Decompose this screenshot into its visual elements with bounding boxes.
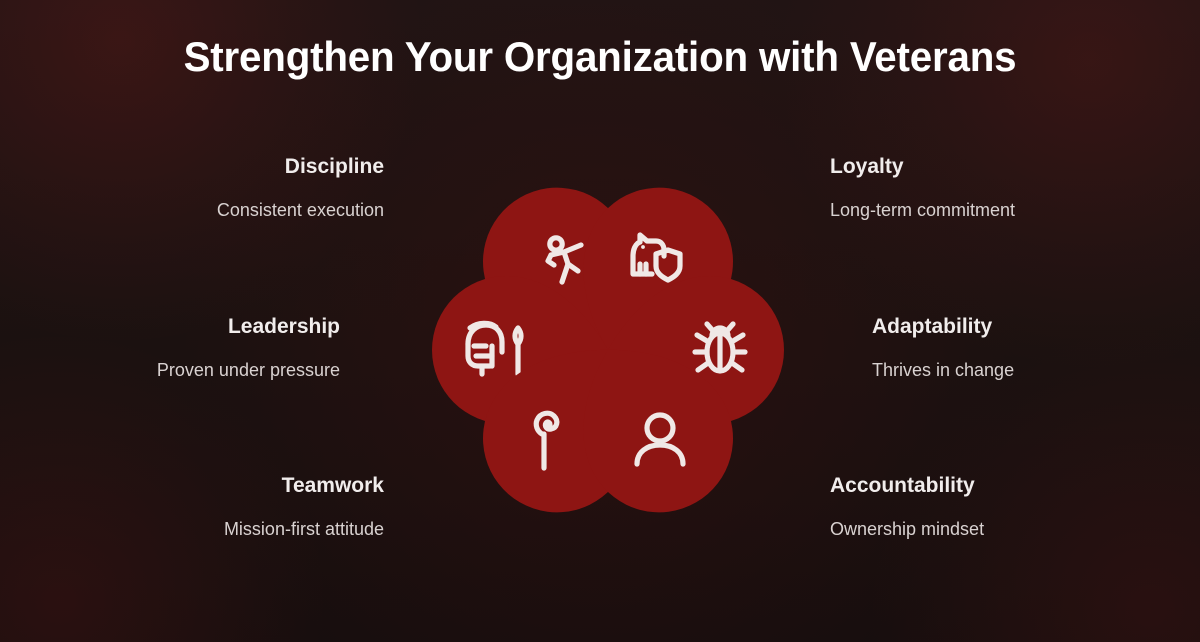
label-title-leadership: Leadership — [0, 314, 340, 340]
infographic-canvas: Strengthen Your Organization with Vetera… — [0, 0, 1200, 642]
label-block-adaptability: Adaptability Thrives in change — [872, 314, 1200, 382]
label-block-accountability: Accountability Ownership mindset — [830, 473, 1170, 541]
label-subtitle-accountability: Ownership mindset — [830, 517, 1170, 541]
label-block-loyalty: Loyalty Long-term commitment — [830, 154, 1170, 222]
label-block-discipline: Discipline Consistent execution — [44, 154, 384, 222]
label-subtitle-loyalty: Long-term commitment — [830, 198, 1170, 222]
page-title: Strengthen Your Organization with Vetera… — [24, 26, 1176, 88]
label-title-discipline: Discipline — [44, 154, 384, 180]
label-subtitle-discipline: Consistent execution — [44, 198, 384, 222]
label-title-teamwork: Teamwork — [44, 473, 384, 499]
label-title-accountability: Accountability — [830, 473, 1170, 499]
label-block-leadership: Leadership Proven under pressure — [0, 314, 340, 382]
label-title-adaptability: Adaptability — [872, 314, 1200, 340]
label-subtitle-teamwork: Mission-first attitude — [44, 517, 384, 541]
label-title-loyalty: Loyalty — [830, 154, 1170, 180]
label-block-teamwork: Teamwork Mission-first attitude — [44, 473, 384, 541]
label-subtitle-adaptability: Thrives in change — [872, 358, 1200, 382]
petal-diagram — [358, 100, 858, 600]
label-subtitle-leadership: Proven under pressure — [0, 358, 340, 382]
